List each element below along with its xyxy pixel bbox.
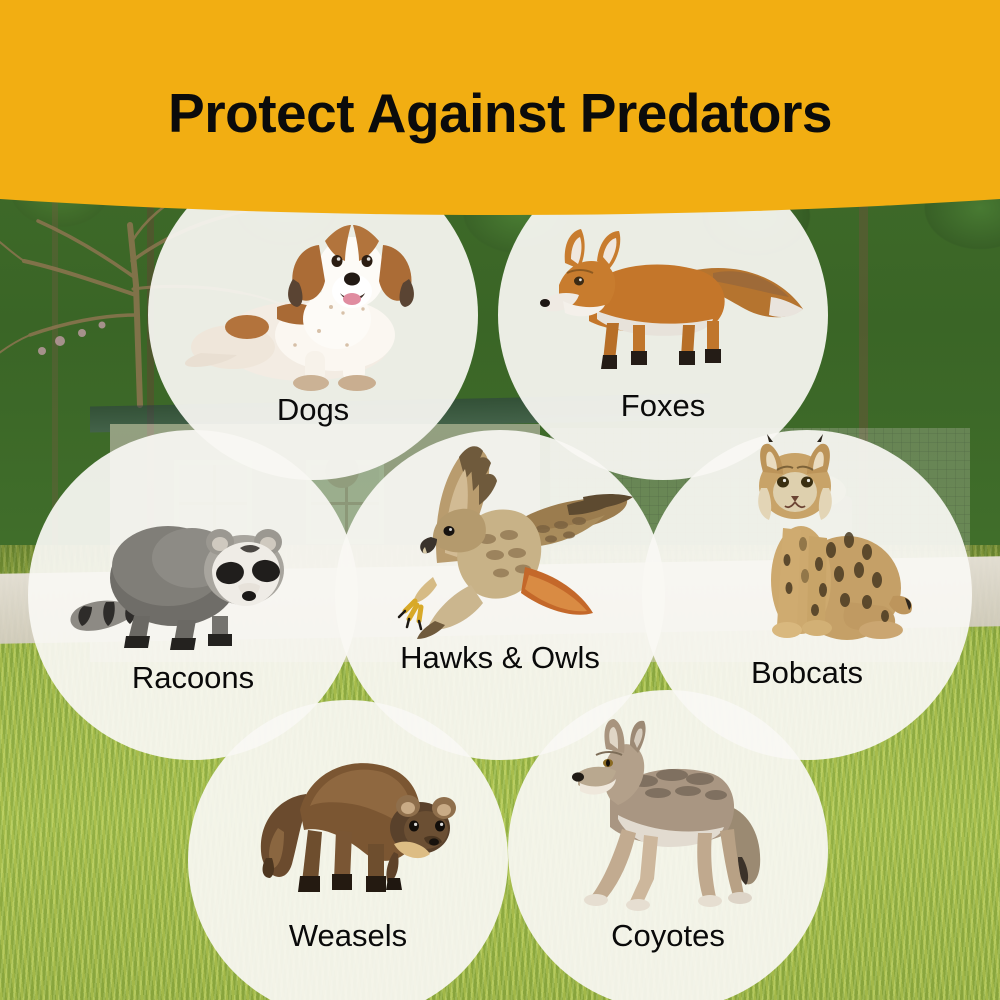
predator-bubble-weasels[interactable] bbox=[188, 700, 508, 1000]
predator-bubble-coyotes[interactable] bbox=[508, 690, 828, 1000]
infographic-canvas: Dogs bbox=[0, 0, 1000, 1000]
page-title: Protect Against Predators bbox=[0, 81, 1000, 145]
